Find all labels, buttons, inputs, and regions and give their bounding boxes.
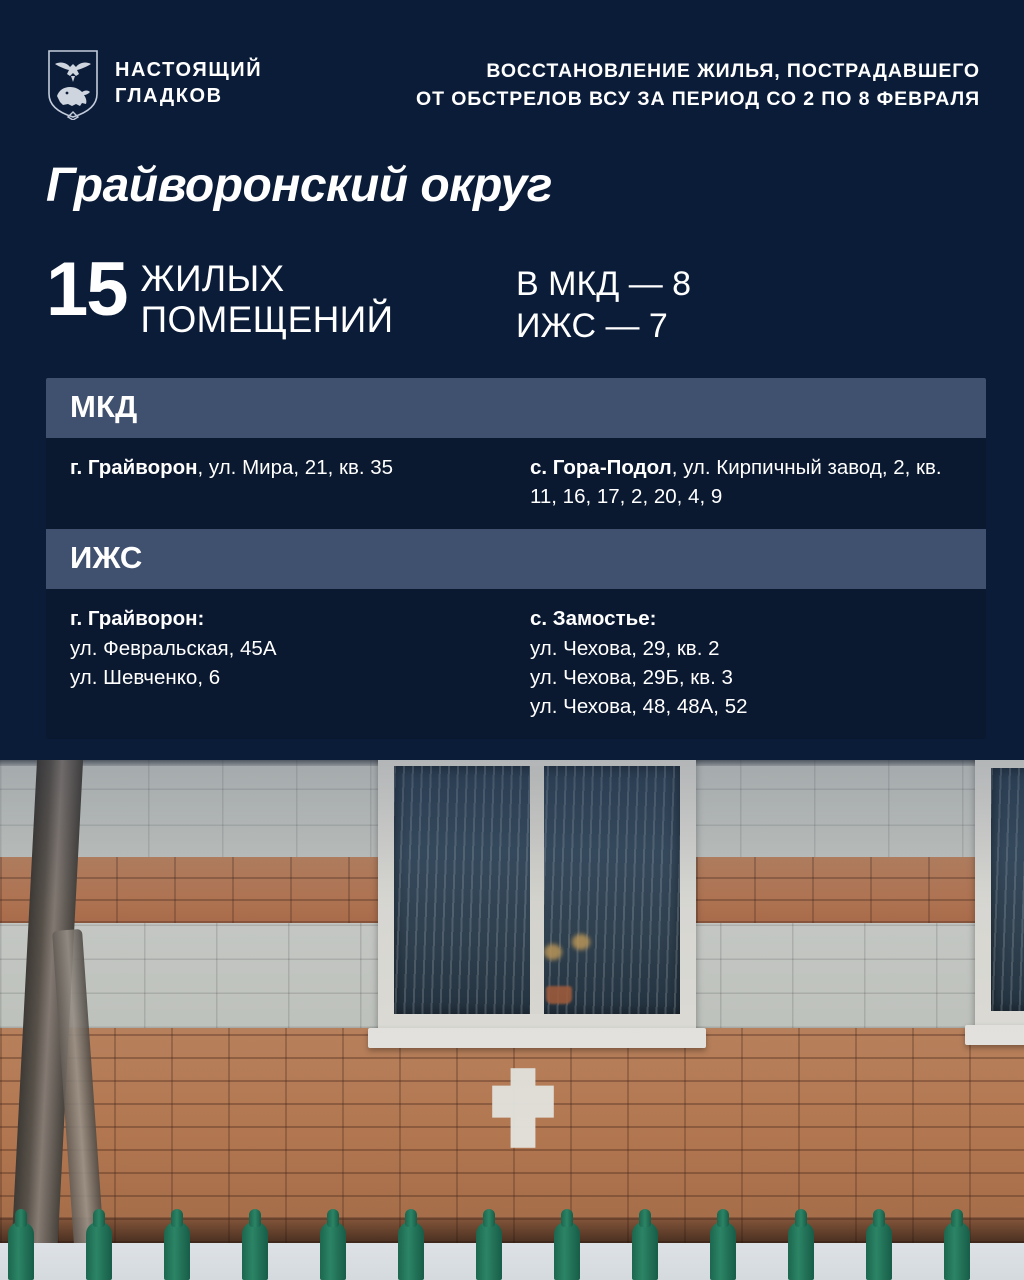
brand-line-2: ГЛАДКОВ bbox=[115, 84, 262, 110]
address-place: с. Гора-Подол bbox=[530, 456, 672, 479]
address-line: ул. Шевченко, 6 bbox=[70, 663, 494, 692]
window-flower bbox=[544, 944, 562, 960]
house-window-right bbox=[975, 752, 1024, 1037]
window-mullion bbox=[530, 766, 544, 1014]
window-flower-pot bbox=[546, 986, 572, 1004]
breakdown-mkd: В МКД — 8 bbox=[516, 263, 691, 305]
total-label: ЖИЛЫХ ПОМЕЩЕНИЙ bbox=[141, 253, 394, 340]
total-count: 15 bbox=[46, 253, 127, 325]
fence-picket bbox=[710, 1222, 736, 1280]
brand-line-1: НАСТОЯЩИЙ bbox=[115, 58, 262, 84]
breakdown-izhs: ИЖС — 7 bbox=[516, 305, 691, 347]
addresses-panel: МКД г. Грайворон, ул. Мира, 21, кв. 35 с… bbox=[46, 378, 986, 739]
brand-name: НАСТОЯЩИЙ ГЛАДКОВ bbox=[115, 58, 262, 109]
section-header-izhs: ИЖС bbox=[46, 529, 986, 589]
district-title: Грайворонский округ bbox=[46, 158, 552, 213]
total-label-line-2: ПОМЕЩЕНИЙ bbox=[141, 300, 394, 341]
mkd-column-right: с. Гора-Подол, ул. Кирпичный завод, 2, к… bbox=[516, 454, 962, 511]
fence-picket bbox=[242, 1222, 268, 1280]
address-entry: г. Грайворон: bbox=[70, 605, 494, 634]
stats-row: 15 ЖИЛЫХ ПОМЕЩЕНИЙ В МКД — 8 ИЖС — 7 bbox=[46, 253, 986, 347]
address-line: ул. Чехова, 29, кв. 2 bbox=[530, 634, 962, 663]
izhs-column-right: с. Замостье: ул. Чехова, 29, кв. 2 ул. Ч… bbox=[516, 605, 962, 721]
fence-picket bbox=[632, 1222, 658, 1280]
section-title-izhs: ИЖС bbox=[70, 540, 143, 576]
header-title-line-1: ВОССТАНОВЛЕНИЕ ЖИЛЬЯ, ПОСТРАДАВШЕГО bbox=[360, 58, 980, 86]
fence-picket bbox=[866, 1222, 892, 1280]
address-entry: с. Замостье: bbox=[530, 605, 962, 634]
stats-total: 15 ЖИЛЫХ ПОМЕЩЕНИЙ bbox=[46, 253, 516, 347]
address-detail: , ул. Мира, 21, кв. 35 bbox=[198, 456, 394, 479]
address-entry: с. Гора-Подол, ул. Кирпичный завод, 2, к… bbox=[530, 454, 962, 511]
house-window-center bbox=[378, 750, 696, 1040]
green-fence bbox=[0, 1222, 1024, 1280]
window-flower bbox=[572, 934, 590, 950]
fence-picket bbox=[944, 1222, 970, 1280]
stats-breakdown: В МКД — 8 ИЖС — 7 bbox=[516, 253, 691, 347]
fence-picket bbox=[554, 1222, 580, 1280]
section-body-mkd: г. Грайворон, ул. Мира, 21, кв. 35 с. Го… bbox=[46, 438, 986, 529]
address-line: ул. Чехова, 48, 48А, 52 bbox=[530, 692, 962, 721]
fence-picket bbox=[476, 1222, 502, 1280]
page-header: НАСТОЯЩИЙ ГЛАДКОВ ВОССТАНОВЛЕНИЕ ЖИЛЬЯ, … bbox=[0, 0, 1024, 140]
fence-picket bbox=[8, 1222, 34, 1280]
address-line: ул. Чехова, 29Б, кв. 3 bbox=[530, 663, 962, 692]
window-curtain bbox=[991, 768, 1024, 1011]
address-place: г. Грайворон: bbox=[70, 607, 204, 630]
fence-picket bbox=[86, 1222, 112, 1280]
section-body-izhs: г. Грайворон: ул. Февральская, 45А ул. Ш… bbox=[46, 589, 986, 739]
fence-picket bbox=[788, 1222, 814, 1280]
izhs-column-left: г. Грайворон: ул. Февральская, 45А ул. Ш… bbox=[70, 605, 516, 721]
address-line-list: ул. Февральская, 45А ул. Шевченко, 6 bbox=[70, 634, 494, 692]
section-header-mkd: МКД bbox=[46, 378, 986, 438]
fence-picket bbox=[398, 1222, 424, 1280]
fence-picket bbox=[164, 1222, 190, 1280]
window-sill bbox=[368, 1028, 706, 1048]
address-line-list: ул. Чехова, 29, кв. 2 ул. Чехова, 29Б, к… bbox=[530, 634, 962, 721]
header-title-line-2: ОТ ОБСТРЕЛОВ ВСУ ЗА ПЕРИОД СО 2 ПО 8 ФЕВ… bbox=[360, 86, 980, 114]
fence-picket bbox=[320, 1222, 346, 1280]
brand-lockup: НАСТОЯЩИЙ ГЛАДКОВ bbox=[46, 48, 262, 120]
section-title-mkd: МКД bbox=[70, 389, 137, 425]
address-place: с. Замостье: bbox=[530, 607, 656, 630]
belgorod-coat-of-arms-icon bbox=[46, 48, 100, 120]
address-entry: г. Грайворон, ул. Мира, 21, кв. 35 bbox=[70, 454, 494, 483]
mkd-column-left: г. Грайворон, ул. Мира, 21, кв. 35 bbox=[70, 454, 516, 511]
header-title: ВОССТАНОВЛЕНИЕ ЖИЛЬЯ, ПОСТРАДАВШЕГО ОТ О… bbox=[360, 58, 980, 113]
total-label-line-1: ЖИЛЫХ bbox=[141, 259, 394, 300]
address-place: г. Грайворон bbox=[70, 456, 198, 479]
window-glass bbox=[991, 768, 1024, 1011]
window-sill bbox=[965, 1025, 1024, 1045]
address-line: ул. Февральская, 45А bbox=[70, 634, 494, 663]
